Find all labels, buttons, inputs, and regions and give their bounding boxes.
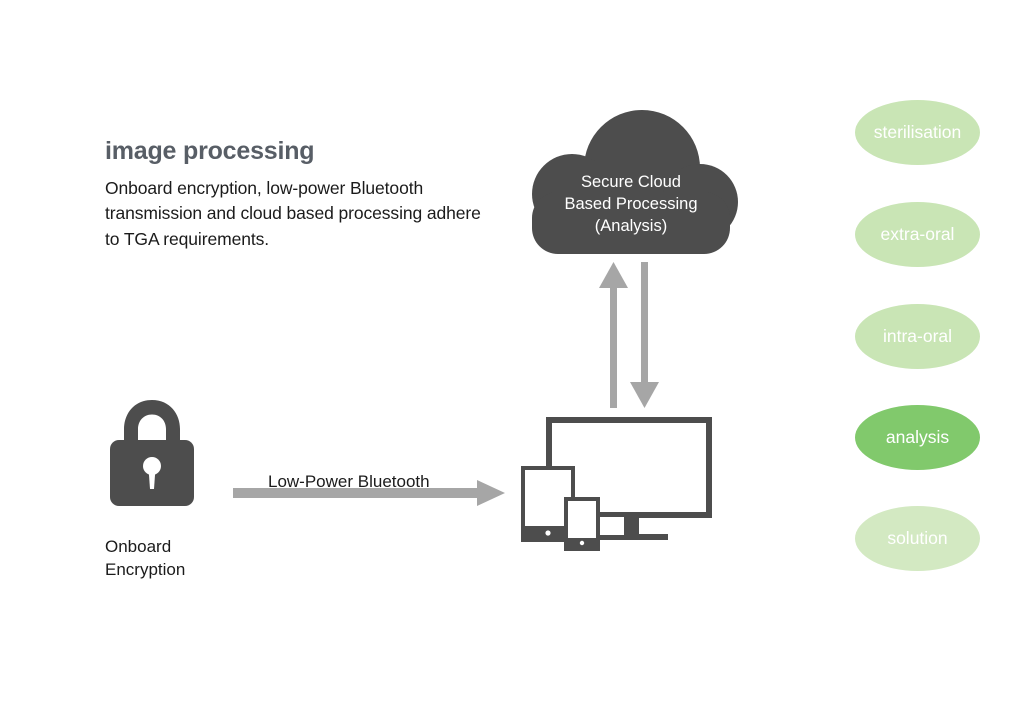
- stage-pill-solution[interactable]: solution: [855, 506, 980, 571]
- stage-pill-sterilisation[interactable]: sterilisation: [855, 100, 980, 165]
- stage-pill-label: analysis: [886, 427, 949, 448]
- phone-icon: [566, 499, 598, 549]
- download-arrow-icon: [630, 262, 659, 408]
- lock-caption: Onboard Encryption: [105, 536, 185, 582]
- padlock-icon: [104, 398, 200, 506]
- stage-pill-intra-oral[interactable]: intra-oral: [855, 304, 980, 369]
- stage-pill-extra-oral[interactable]: extra-oral: [855, 202, 980, 267]
- lock-caption-line1: Onboard: [105, 536, 185, 559]
- upload-arrow-icon: [599, 262, 628, 408]
- stage-pill-label: extra-oral: [881, 224, 955, 245]
- stage-pill-label: sterilisation: [874, 122, 962, 143]
- lock-caption-line2: Encryption: [105, 559, 185, 582]
- bluetooth-arrow-icon: [233, 480, 505, 506]
- page-description: Onboard encryption, low-power Bluetooth …: [105, 176, 485, 253]
- stage-pill-analysis[interactable]: analysis: [855, 405, 980, 470]
- device-cluster-icon: [516, 416, 726, 552]
- cloud-sync-arrows: [592, 262, 666, 408]
- stage-pill-label: intra-oral: [883, 326, 952, 347]
- page-title: image processing: [105, 138, 485, 166]
- intro-text-block: image processing Onboard encryption, low…: [105, 138, 485, 253]
- diagram-canvas: image processing Onboard encryption, low…: [0, 0, 1024, 719]
- cloud-icon: [524, 106, 738, 258]
- stage-pill-label: solution: [887, 528, 947, 549]
